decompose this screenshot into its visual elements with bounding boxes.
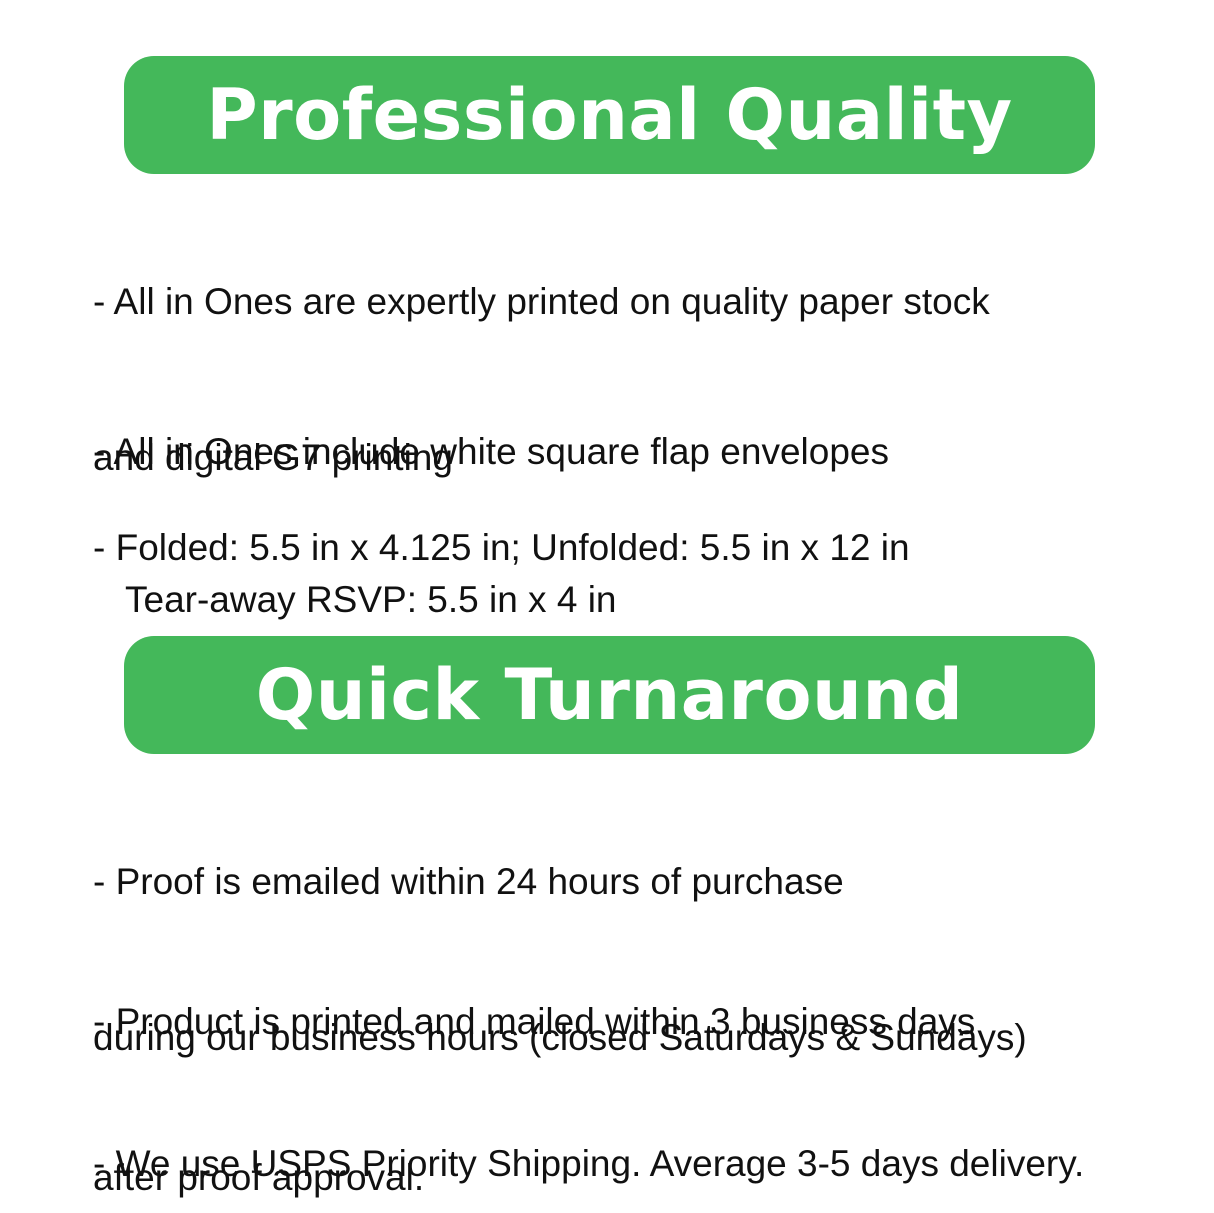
paragraph-proof-line-1: - Proof is emailed within 24 hours of pu… [93,861,844,902]
paragraph-printing-line-1: - All in Ones are expertly printed on qu… [93,281,990,322]
paragraph-envelopes-line-1: - All in Ones include white square flap … [93,431,889,472]
product-info-graphic: Professional Quality - All in Ones are e… [0,0,1214,1213]
paragraph-dimensions-line-1: - Folded: 5.5 in x 4.125 in; Unfolded: 5… [93,527,910,568]
paragraph-dimensions-line-2: Tear-away RSVP: 5.5 in x 4 in [93,574,1183,626]
paragraph-shipping-line-1: - We use USPS Priority Shipping. Average… [93,1143,1084,1184]
section-banner-quick-turnaround: Quick Turnaround [124,636,1095,754]
paragraph-shipping: - We use USPS Priority Shipping. Average… [93,1086,1183,1190]
paragraph-print-and-mail-line-1: - Product is printed and mailed within 3… [93,1001,975,1042]
banner-title-professional-quality: Professional Quality [206,80,1012,150]
banner-title-quick-turnaround: Quick Turnaround [256,660,964,730]
section-banner-professional-quality: Professional Quality [124,56,1095,174]
paragraph-envelopes: - All in Ones include white square flap … [93,374,1183,478]
